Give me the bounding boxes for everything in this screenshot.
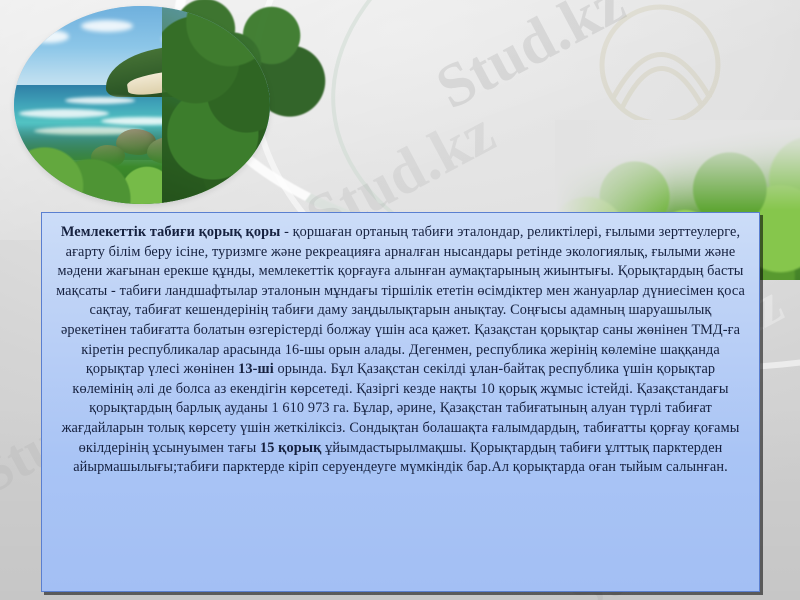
paragraph-part-1: - қоршаған ортаның табиғи эталондар, рел… — [56, 224, 745, 377]
cloud-shape — [29, 30, 69, 43]
rank-emphasis: 13-ші — [238, 361, 274, 377]
oval-beach-photo — [14, 6, 270, 204]
slide-canvas: Stud.kz Stud.kz Stud.kz Stud.kz Stud.kz — [0, 0, 800, 600]
content-textbox[interactable]: Мемлекеттік табиғи қорық қоры - қоршаған… — [41, 212, 760, 592]
cloud-shape — [81, 20, 133, 32]
surf-line — [19, 109, 109, 118]
lead-term: Мемлекеттік табиғи қорық қоры — [61, 224, 281, 240]
beach-scene — [14, 6, 270, 204]
right-bush — [162, 6, 270, 204]
watermark-text: Stud.kz — [425, 0, 636, 124]
body-paragraph: Мемлекеттік табиғи қорық қоры - қоршаған… — [56, 223, 745, 478]
reserves-emphasis: 15 қорық — [260, 440, 321, 456]
